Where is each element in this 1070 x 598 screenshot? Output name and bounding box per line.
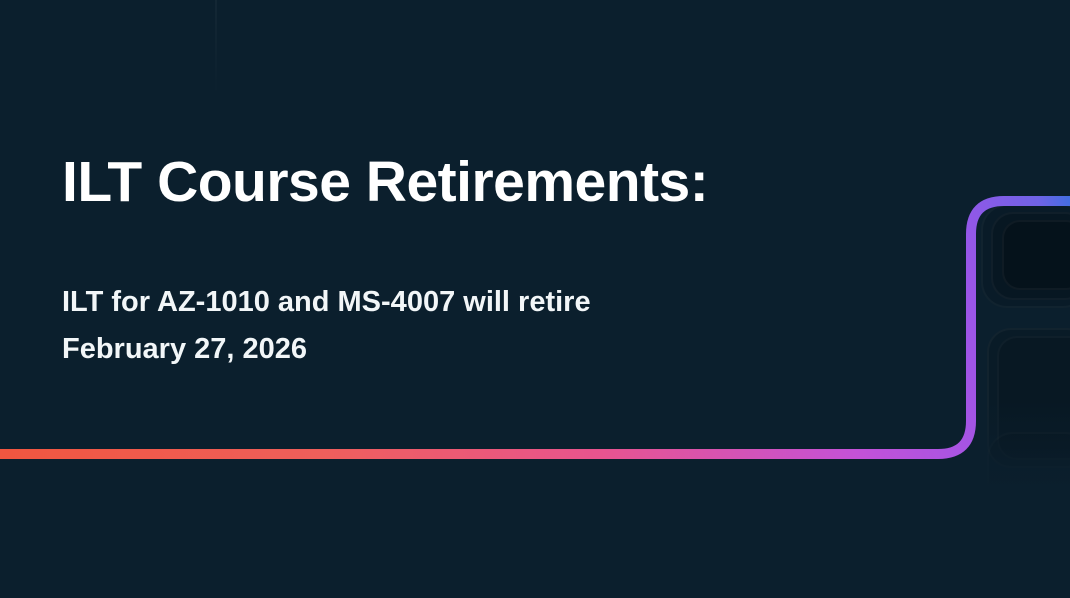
page-subtitle: ILT for AZ-1010 and MS-4007 will retire … — [62, 279, 591, 373]
faint-vertical-rule-icon — [215, 0, 217, 96]
slide-canvas: ILT Course Retirements: ILT for AZ-1010 … — [0, 0, 1070, 598]
rounded-rect-inner-top — [1002, 220, 1070, 290]
page-title: ILT Course Retirements: — [62, 152, 708, 214]
decorative-rounded-rect-panel — [975, 180, 1070, 510]
rounded-rect-bottom — [987, 432, 1070, 510]
